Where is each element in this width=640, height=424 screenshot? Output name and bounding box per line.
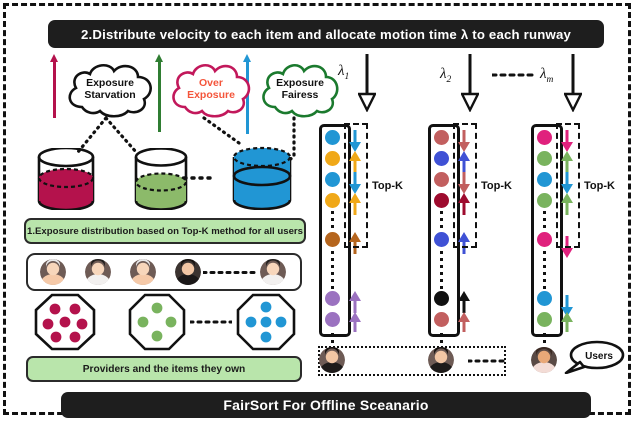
runway-1-item [325,291,340,306]
runway-1-gap-dots [325,211,340,231]
runway-m-item [537,193,552,208]
provider-octagon-blue [236,293,296,351]
runway-1-gap-dots [325,251,340,289]
runway-2-topk-label: Top-K [481,180,512,192]
cloud-3-line2: Fairess [276,90,324,102]
avatar [85,259,111,285]
runway-m-item [537,291,552,306]
runway-1-tail-dots [325,333,340,347]
cylinder-green [133,148,189,210]
lambda-label-m: λm [540,66,553,85]
runway-1-topk-box [344,123,368,248]
providers-items-box: Providers and the items they own [26,356,302,382]
lambda-label-1: λ1 [338,63,349,82]
ellipsis-dots [203,270,259,275]
runway-1-item [325,312,340,327]
avatar [260,259,286,285]
cylinder-blue [231,146,293,210]
runway-m-item [537,172,552,187]
users-speech-bubble: Users [564,342,622,370]
runway-m-inflow-arrow [564,54,582,112]
cylinder-crimson [36,148,96,210]
avatar [319,347,345,373]
runway-ellipsis-dots [492,72,534,78]
runway-2-item [434,232,449,247]
cloud-2-line2: Exposure [187,90,235,102]
runway-m-gap-dots [537,251,552,289]
lambda-label-2: λ2 [440,66,451,85]
runway-2-item [434,193,449,208]
user-avatar-row [26,253,302,291]
runway-2-topk-box [453,123,477,248]
runway-m-item [537,130,552,145]
runway-2-inflow-arrow [461,54,479,112]
bottom-ellipsis-dots [468,358,508,364]
ellipsis-dots [190,319,232,325]
runway-m-tail-dots [537,333,552,347]
runway-1-inflow-arrow [358,54,376,112]
runway-m-item [537,151,552,166]
runway-m-item [537,232,552,247]
runway-1-item [325,151,340,166]
runway-2-item [434,151,449,166]
runway-2-item [434,172,449,187]
banner-fairsort-offline: FairSort For Offline Sceanario [61,392,591,418]
runway-1-item [325,130,340,145]
runway-2-gap-dots [434,211,449,231]
green-up-arrow [158,54,161,132]
runway-m-gap-dots [537,211,552,231]
runway-2-item [434,312,449,327]
avatar [175,259,201,285]
crimson-up-arrow [53,54,56,118]
avatar [40,259,66,285]
users-bubble-label: Users [570,342,628,370]
runway-1-item [325,232,340,247]
runway-2-item [434,130,449,145]
provider-octagon-crimson [34,293,96,351]
cloud-1-line2: Starvation [84,90,135,102]
cloud-over-exposure: Over Exposure [166,61,256,119]
cloud-exposure-fairness: Exposure Fairess [256,61,344,119]
runway-m-topk-box [556,123,580,248]
cloud-exposure-starvation: Exposure Starvation [62,61,158,119]
runway-2-tail-dots [434,333,449,347]
provider-octagon-green [128,293,186,351]
avatar [428,347,454,373]
runway-2-item [434,291,449,306]
runway-1-topk-label: Top-K [372,180,403,192]
runway-2-gap-dots [434,251,449,289]
avatar [130,259,156,285]
runway-1-item [325,193,340,208]
avatar [531,347,557,373]
runway-m-item [537,312,552,327]
diagram-frame: 2.Distribute velocity to each item and a… [3,3,631,415]
runway-m-topk-label: Top-K [584,180,615,192]
runway-1-item [325,172,340,187]
banner-step-2: 2.Distribute velocity to each item and a… [48,20,604,48]
exposure-distribution-box: 1.Exposure distribution based on Top-K m… [24,218,306,244]
